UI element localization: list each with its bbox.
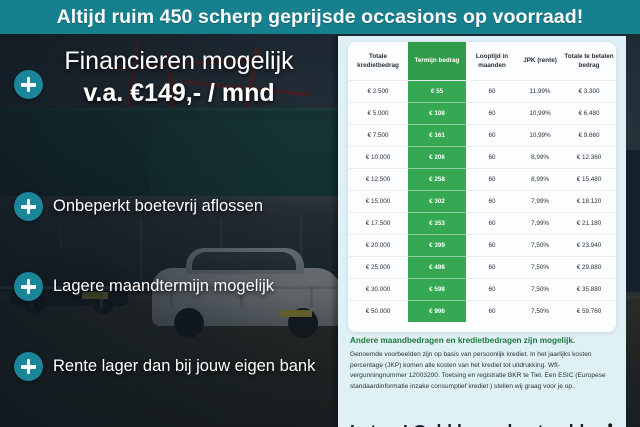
- cell-term-months: 60: [466, 235, 518, 257]
- cell-term-months: 60: [466, 125, 518, 147]
- cell-term-months: 60: [466, 279, 518, 301]
- running-man-door-icon: [589, 422, 619, 427]
- list-item: Onbeperkt boetevrij aflossen: [14, 192, 263, 221]
- cell-total-credit: € 25.000: [348, 257, 408, 279]
- cell-total-payable: € 21.180: [562, 213, 616, 235]
- cell-total-payable: € 15.480: [562, 169, 616, 191]
- table-row: € 30.000€ 598607,50%€ 35.880: [348, 279, 616, 301]
- plus-icon: [14, 352, 43, 381]
- cell-total-credit: € 50.000: [348, 301, 408, 323]
- column-header-total-credit: Totale kredietbedrag: [348, 42, 408, 81]
- table-row: € 2.500€ 556011,99%€ 3.300: [348, 81, 616, 103]
- cell-term-months: 60: [466, 169, 518, 191]
- cell-total-credit: € 15.000: [348, 191, 408, 213]
- headline-line-2: v.a. €149,- / mnd: [14, 78, 344, 108]
- table-row: € 7.500€ 1616010,99%€ 9.660: [348, 125, 616, 147]
- cell-apr: 8,99%: [518, 169, 562, 191]
- cell-term-months: 60: [466, 191, 518, 213]
- cell-total-payable: € 9.660: [562, 125, 616, 147]
- table-row: € 5.000€ 1086010,99%€ 6.480: [348, 103, 616, 125]
- credit-warning: Let op! Geld lenen kost geld: [350, 421, 619, 427]
- table-row: € 10.000€ 206608,99%€ 12.360: [348, 147, 616, 169]
- plus-icon: [14, 192, 43, 221]
- cell-apr: 7,50%: [518, 279, 562, 301]
- cell-monthly-amount: € 258: [408, 169, 466, 191]
- table-header-row: Totale kredietbedrag Termijn bedrag Loop…: [348, 42, 616, 81]
- column-header-monthly-amount: Termijn bedrag: [408, 42, 466, 81]
- cell-total-credit: € 17.500: [348, 213, 408, 235]
- cell-monthly-amount: € 399: [408, 235, 466, 257]
- cell-total-credit: € 7.500: [348, 125, 408, 147]
- banner-headline: Altijd ruim 450 scherp geprijsde occasio…: [57, 6, 584, 29]
- cell-term-months: 60: [466, 213, 518, 235]
- cell-total-payable: € 3.300: [562, 81, 616, 103]
- credit-warning-text: Let op! Geld lenen kost geld: [350, 421, 584, 427]
- cell-monthly-amount: € 55: [408, 81, 466, 103]
- cell-monthly-amount: € 302: [408, 191, 466, 213]
- cell-apr: 10,99%: [518, 125, 562, 147]
- table-body: € 2.500€ 556011,99%€ 3.300€ 5.000€ 10860…: [348, 81, 616, 323]
- cell-total-credit: € 12.500: [348, 169, 408, 191]
- disclaimer-heading: Andere maandbedragen en kredietbedragen …: [350, 336, 612, 345]
- cell-apr: 8,99%: [518, 147, 562, 169]
- cell-total-payable: € 35.880: [562, 279, 616, 301]
- finance-headline: Financieren mogelijk v.a. €149,- / mnd: [14, 48, 344, 108]
- table-row: € 50.000€ 996607,50%€ 59.760: [348, 301, 616, 323]
- column-header-term-months: Looptijd in maanden: [466, 42, 518, 81]
- cell-total-payable: € 59.760: [562, 301, 616, 323]
- top-banner: Altijd ruim 450 scherp geprijsde occasio…: [0, 0, 640, 34]
- list-item: Rente lager dan bij jouw eigen bank: [14, 352, 315, 381]
- cell-total-payable: € 29.880: [562, 257, 616, 279]
- headline-line-1: Financieren mogelijk: [14, 48, 344, 74]
- list-item-label: Onbeperkt boetevrij aflossen: [53, 197, 263, 216]
- disclaimer-body: Genoemde voorbeelden zijn op basis van p…: [350, 350, 612, 393]
- table-row: € 17.500€ 353607,99%€ 21.180: [348, 213, 616, 235]
- cell-term-months: 60: [466, 103, 518, 125]
- cell-total-payable: € 12.360: [562, 147, 616, 169]
- list-item: Lagere maandtermijn mogelijk: [14, 272, 274, 301]
- list-item-label: Rente lager dan bij jouw eigen bank: [53, 357, 315, 376]
- column-header-apr: JPK (rente): [518, 42, 562, 81]
- cell-total-credit: € 2.500: [348, 81, 408, 103]
- cell-apr: 7,50%: [518, 257, 562, 279]
- cell-apr: 10,99%: [518, 103, 562, 125]
- advertisement-banner: LER INRUILAUTO'S JOHAN MEURE ALTIJD 450 …: [0, 0, 640, 427]
- cell-term-months: 60: [466, 301, 518, 323]
- cell-apr: 7,99%: [518, 213, 562, 235]
- table-row: € 20.000€ 399607,50%€ 23.940: [348, 235, 616, 257]
- cell-apr: 7,50%: [518, 301, 562, 323]
- cell-monthly-amount: € 996: [408, 301, 466, 323]
- column-header-total-payable: Totale te betalen bedrag: [562, 42, 616, 81]
- disclaimer-block: Andere maandbedragen en kredietbedragen …: [350, 336, 612, 393]
- card-shadow: [330, 36, 338, 427]
- cell-total-credit: € 5.000: [348, 103, 408, 125]
- left-content-column: Financieren mogelijk v.a. €149,- / mnd O…: [0, 34, 350, 427]
- cell-total-payable: € 23.940: [562, 235, 616, 257]
- cell-total-payable: € 18.120: [562, 191, 616, 213]
- cell-monthly-amount: € 161: [408, 125, 466, 147]
- cell-monthly-amount: € 498: [408, 257, 466, 279]
- list-item-label: Lagere maandtermijn mogelijk: [53, 277, 274, 296]
- loan-table-container: Totale kredietbedrag Termijn bedrag Loop…: [348, 42, 616, 332]
- cell-apr: 7,50%: [518, 235, 562, 257]
- table-row: € 25.000€ 498607,50%€ 29.880: [348, 257, 616, 279]
- cell-total-payable: € 6.480: [562, 103, 616, 125]
- cell-total-credit: € 20.000: [348, 235, 408, 257]
- cell-term-months: 60: [466, 147, 518, 169]
- cell-term-months: 60: [466, 257, 518, 279]
- plus-icon: [14, 272, 43, 301]
- table-row: € 12.500€ 258608,99%€ 15.480: [348, 169, 616, 191]
- cell-total-credit: € 10.000: [348, 147, 408, 169]
- cell-monthly-amount: € 353: [408, 213, 466, 235]
- cell-monthly-amount: € 598: [408, 279, 466, 301]
- finance-info-card: Totale kredietbedrag Termijn bedrag Loop…: [338, 36, 626, 427]
- cell-monthly-amount: € 206: [408, 147, 466, 169]
- cell-monthly-amount: € 108: [408, 103, 466, 125]
- cell-term-months: 60: [466, 81, 518, 103]
- table-row: € 15.000€ 302607,99%€ 18.120: [348, 191, 616, 213]
- cell-total-credit: € 30.000: [348, 279, 408, 301]
- cell-apr: 11,99%: [518, 81, 562, 103]
- loan-table: Totale kredietbedrag Termijn bedrag Loop…: [348, 42, 616, 322]
- cell-apr: 7,99%: [518, 191, 562, 213]
